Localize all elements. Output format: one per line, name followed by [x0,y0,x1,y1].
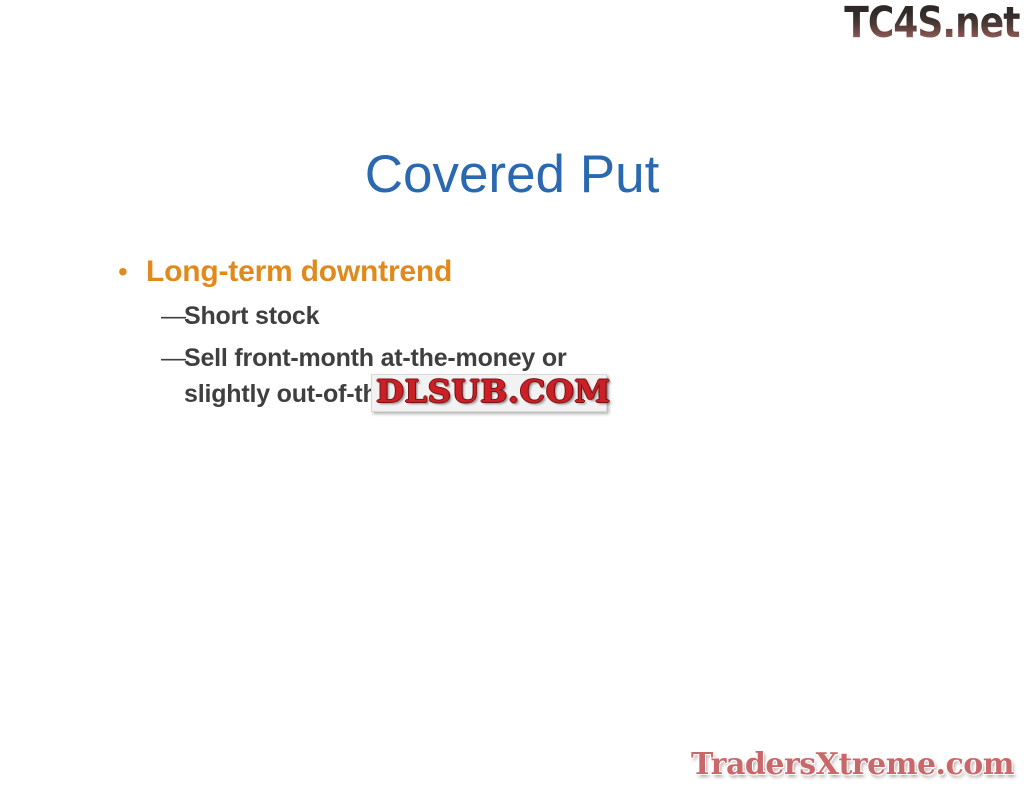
watermark-dlsub: DLSUB.COM [371,374,607,412]
bullet-dot-icon: • [118,252,146,292]
em-dash-icon: — [161,298,184,334]
sub-bullet-item-short-stock: — Short stock [161,298,818,334]
presentation-slide: TC4S.net Covered Put • Long-term downtre… [0,0,1024,791]
sub-bullet-label-short-stock: Short stock [184,298,319,334]
em-dash-icon: — [161,340,184,376]
bullet-item-level1: • Long-term downtrend [118,252,818,292]
bullet-level1-label: Long-term downtrend [146,252,452,292]
watermark-label: DLSUB.COM [376,377,611,408]
brand-logo-tc4s: TC4S.net [845,2,1020,45]
slide-title: Covered Put [0,146,1024,203]
site-logo-tradersxtreme: TradersXtreme.com [691,747,1014,783]
